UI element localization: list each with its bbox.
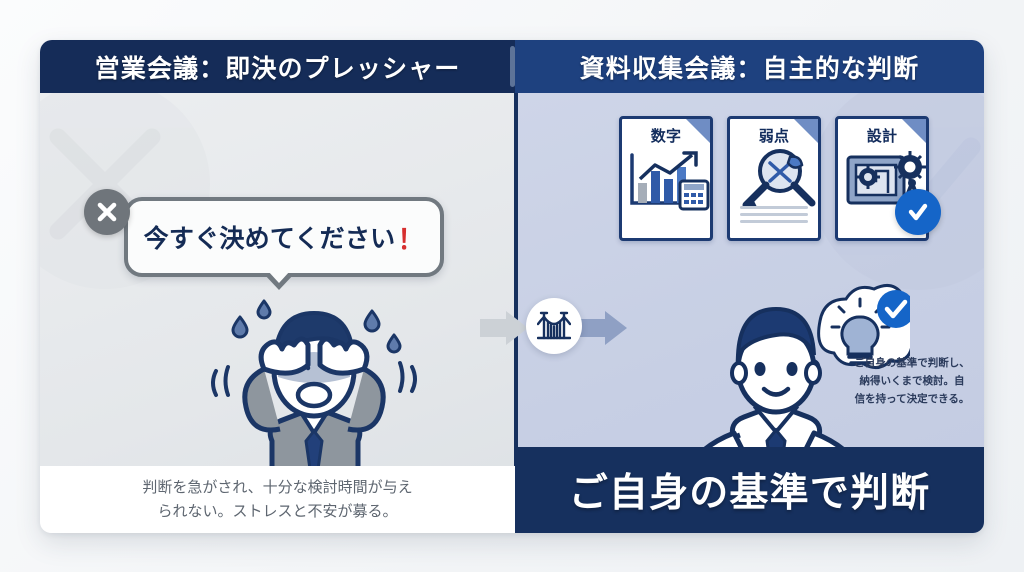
caption-negative-line1: 判断を急がされ、十分な検討時間が与え <box>142 476 412 499</box>
document-title: 設計 <box>838 125 926 146</box>
headline-positive-text: ご自身の基準で判断 <box>569 462 931 518</box>
speech-bubble: 今すぐ決めてください ！ <box>124 197 444 277</box>
circle-check-icon <box>895 189 941 235</box>
caption-negative: 判断を急がされ、十分な検討時間が与え られない。ストレスと不安が募る。 <box>40 466 515 533</box>
right-note: ご自身の基準で判断し、 納得いくまで検討。自 信を持って決定できる。 <box>852 355 972 409</box>
header-right-positive: 資料収集会議：自主的な判断 <box>515 40 984 93</box>
document-card-list: 数字 <box>619 116 929 241</box>
document-card[interactable]: 弱点 <box>727 116 821 241</box>
magnifier-arrow-icon <box>730 147 821 213</box>
bar-chart-calculator-icon <box>622 147 713 213</box>
arrow-right-gray-icon <box>480 311 528 345</box>
document-card[interactable]: 数字 <box>619 116 713 241</box>
document-title: 数字 <box>622 125 710 146</box>
document-title: 弱点 <box>730 125 818 146</box>
document-text-lines <box>740 206 808 227</box>
exclamation-mark: ！ <box>397 218 424 257</box>
caption-negative-line2: られない。ストレスと不安が募る。 <box>157 500 397 523</box>
header-right-text: 資料収集会議：自主的な判断 <box>580 49 920 85</box>
right-note-line2: 納得いくまで検討。自 <box>852 373 972 391</box>
header-left-negative: 営業会議：即決のプレッシャー <box>40 40 515 93</box>
bridge-icon <box>526 298 582 354</box>
right-note-line1: ご自身の基準で判断し、 <box>852 355 972 373</box>
header-left-text: 営業会議：即決のプレッシャー <box>95 49 461 85</box>
right-note-line3: 信を持って決定できる。 <box>852 391 972 409</box>
arrow-right-blue-icon <box>579 311 627 345</box>
headline-positive: ご自身の基準で判断 <box>515 447 984 533</box>
speech-bubble-text: 今すぐ決めてください <box>144 219 396 255</box>
circle-x-icon <box>84 189 130 235</box>
